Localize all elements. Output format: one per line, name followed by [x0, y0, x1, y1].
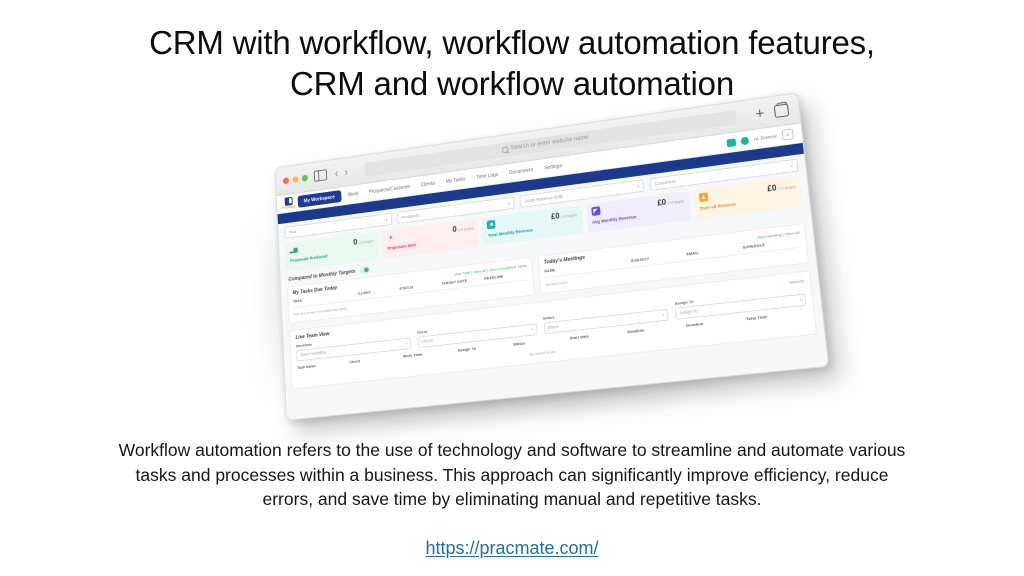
user-greeting: Hi, Dominic	[754, 134, 778, 142]
browser-mockup: ‹ › Search or enter website name + Pracm…	[242, 118, 842, 418]
ltv-filter-workflow-value: Select Workflow	[300, 350, 327, 358]
meetings-panel-links[interactable]: New Meeting | View All	[757, 229, 799, 239]
nav-item-documents[interactable]: Documents	[505, 163, 537, 179]
forward-icon[interactable]: ›	[344, 165, 348, 178]
chevron-down-icon: ▾	[385, 217, 387, 222]
chevron-down-icon: ▾	[662, 313, 664, 317]
col-status: STATUS	[399, 282, 441, 291]
compared-toggle[interactable]	[360, 266, 370, 274]
col-client: CLIENT	[358, 287, 400, 296]
bar-chart-icon: ▂▆	[289, 246, 297, 255]
back-icon[interactable]: ‹	[335, 167, 339, 180]
app-logo[interactable]: Pracmate	[282, 196, 295, 211]
diamond-icon: ♦	[387, 233, 396, 242]
nav-item-my-tasks[interactable]: My Tasks	[442, 173, 469, 188]
nav-item-settings[interactable]: Settings	[540, 159, 566, 174]
nav-arrows: ‹ ›	[335, 165, 349, 180]
filter-revenue-label: Zoom Revenue (£/$)	[524, 194, 562, 204]
nav-item-my-workspace[interactable]: My Workspace	[298, 190, 342, 208]
tabs-overview-icon[interactable]	[774, 103, 790, 118]
col-target-date: TARGET DATE	[441, 277, 484, 286]
nav-item-work[interactable]: Work	[344, 188, 362, 201]
live-team-view-all-link[interactable]: View All	[789, 278, 804, 285]
chevron-down-icon: ▾	[637, 184, 639, 189]
browser-window: ‹ › Search or enter website name + Pracm…	[275, 92, 830, 421]
link-container: https://pracmate.com/	[112, 538, 912, 559]
nav-item-time-logs[interactable]: Time Logs	[472, 168, 502, 183]
filter-customers-label: Customers	[655, 179, 676, 187]
kpi-value: 0(+0 target)	[452, 223, 473, 233]
logo-icon	[284, 197, 292, 206]
search-icon	[501, 146, 508, 153]
address-placeholder: Search or enter website name	[511, 135, 589, 152]
page-title: CRM with workflow, workflow automation f…	[120, 22, 904, 104]
chevron-down-icon: ▾	[508, 201, 510, 206]
kpi-card-proposals-won[interactable]: ♦ 0(+0 target) Proposals Won	[382, 218, 480, 258]
chevron-down-icon: ▾	[531, 327, 533, 331]
nav-item-clients[interactable]: Clients	[417, 177, 439, 191]
chevron-down-icon: ▾	[799, 297, 801, 301]
body-paragraph: Workflow automation refers to the use of…	[112, 438, 912, 512]
chart-up-icon: ◤	[591, 206, 600, 216]
message-icon[interactable]	[726, 138, 736, 147]
avatar[interactable]: D	[782, 128, 794, 140]
chevron-down-icon: ▾	[406, 341, 408, 345]
wallet-icon: ■	[487, 220, 496, 230]
kpi-value: £0(+0 target)	[767, 181, 796, 192]
kpi-value: 0(+0 target)	[353, 236, 374, 246]
website-link[interactable]: https://pracmate.com/	[425, 538, 598, 558]
kpi-value: £0(+0 target)	[657, 196, 684, 207]
filter-prospects-label: Prospects	[402, 213, 420, 220]
globe-icon[interactable]	[740, 136, 749, 145]
close-icon[interactable]	[283, 177, 289, 184]
ltv-filter-client-value: Clients	[421, 338, 433, 344]
nav-item-prospects-customer[interactable]: Prospects/Customer	[365, 180, 414, 198]
kpi-card-total-monthly-revenue[interactable]: ■ £0(+0 target) Total Monthly Revenue	[482, 205, 583, 246]
minimize-icon[interactable]	[292, 175, 298, 182]
chevron-down-icon: ▾	[791, 163, 794, 168]
col-deadline: DEADLINE	[484, 272, 528, 281]
new-tab-button[interactable]: +	[755, 105, 765, 121]
slide-root: CRM with workflow, workflow automation f…	[0, 0, 1024, 576]
kpi-card-proposals-produced[interactable]: ▂▆ 0(+0 target) Proposals Produced	[285, 231, 379, 271]
kpi-value: £0(+0 target)	[551, 210, 577, 221]
sidebar-toggle-icon[interactable]	[314, 169, 328, 182]
meetings-panel-title: Today's Meetings	[544, 255, 586, 266]
ltv-filter-assign-to-value: Assign To	[679, 308, 698, 315]
chrome-actions: +	[755, 102, 792, 121]
maximize-icon[interactable]	[302, 174, 308, 181]
window-controls[interactable]	[283, 174, 308, 184]
logo-text: Pracmate	[282, 205, 296, 210]
coins-icon: ▲	[698, 192, 708, 202]
ltv-filter-status-value: Status	[547, 324, 559, 330]
filter-year-label: Year	[289, 229, 297, 235]
